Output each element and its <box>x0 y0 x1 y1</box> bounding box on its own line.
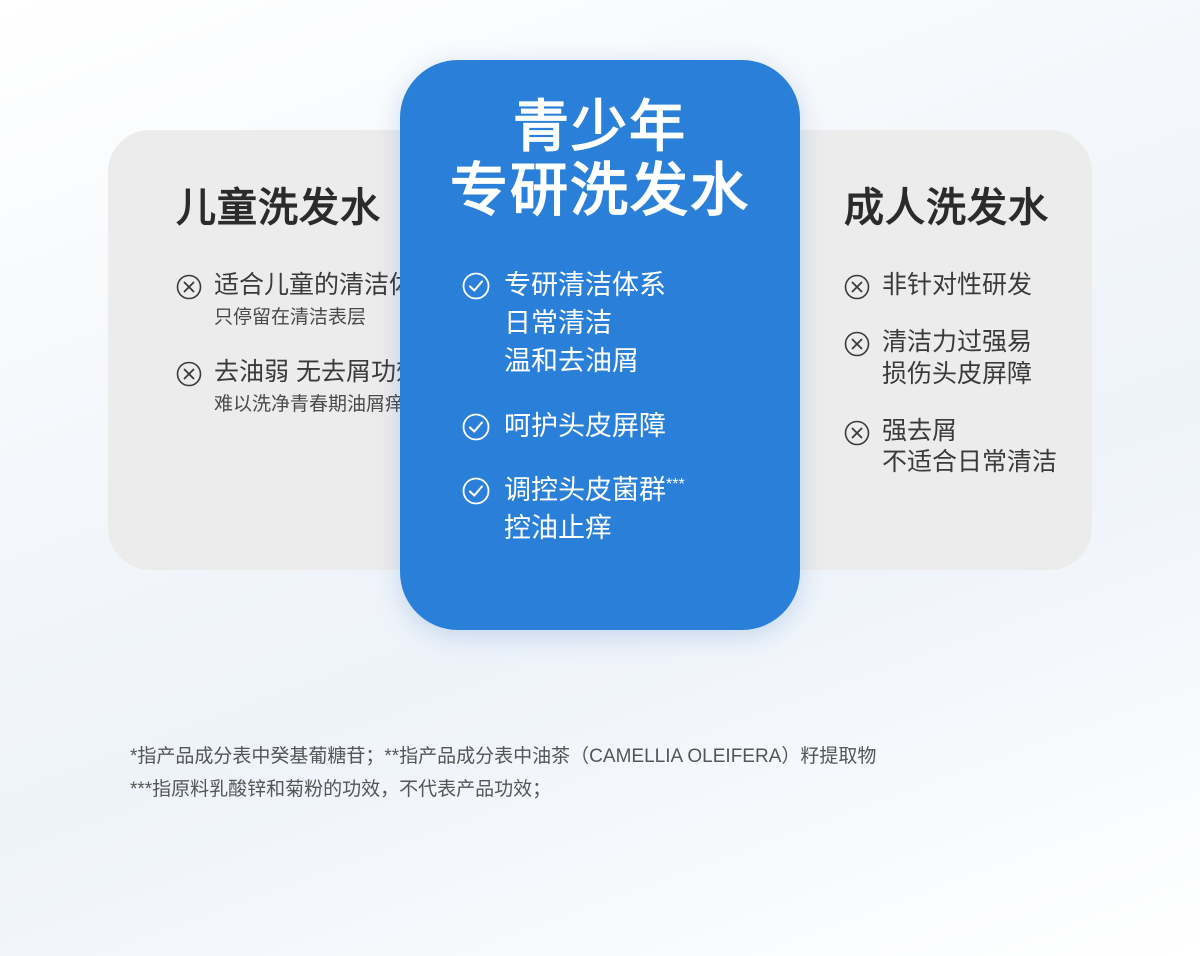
feature-main-text: 强去屑 <box>882 416 1057 447</box>
list-item: 清洁力过强易 损伤头皮屏障 <box>844 327 1092 390</box>
center-title-line1: 青少年 <box>400 98 800 157</box>
footnote-marker: *** <box>666 476 685 493</box>
center-card-title: 青少年 专研洗发水 <box>400 98 800 222</box>
x-circle-icon <box>844 331 870 357</box>
list-item: 强去屑 不适合日常清洁 <box>844 416 1092 479</box>
feature-main-text: 非针对性研发 <box>882 270 1032 301</box>
feature-line: 呵护头皮屏障 <box>504 407 666 445</box>
x-circle-icon <box>176 274 202 300</box>
adult-card-title: 成人洗发水 <box>844 186 1092 230</box>
list-item: 呵护头皮屏障 <box>462 407 800 445</box>
teen-feature-list: 专研清洁体系 日常清洁 温和去油屑 呵护头皮屏障 <box>400 266 800 548</box>
footnote-block: *指产品成分表中癸基葡糖苷；**指产品成分表中油茶（CAMELLIA OLEIF… <box>130 740 1090 807</box>
x-circle-icon <box>844 420 870 446</box>
footnote-line-1: *指产品成分表中癸基葡糖苷；**指产品成分表中油茶（CAMELLIA OLEIF… <box>130 740 1090 773</box>
teen-shampoo-card: 青少年 专研洗发水 专研清洁体系 日常清洁 温和去油屑 <box>400 60 800 630</box>
feature-line-with-footnote: 调控头皮菌群*** <box>504 471 685 509</box>
x-circle-icon <box>176 361 202 387</box>
x-circle-icon <box>844 274 870 300</box>
list-item: 调控头皮菌群*** 控油止痒 <box>462 471 800 548</box>
feature-line: 温和去油屑 <box>504 342 666 380</box>
feature-main-text-2: 损伤头皮屏障 <box>882 359 1032 390</box>
footnote-line-2: ***指原料乳酸锌和菊粉的功效，不代表产品功效； <box>130 773 1090 806</box>
feature-line: 专研清洁体系 <box>504 266 666 304</box>
feature-sub-text: 难以洗净青春期油屑痒 <box>214 392 421 418</box>
feature-line: 控油止痒 <box>504 509 685 547</box>
feature-line: 日常清洁 <box>504 304 666 342</box>
feature-main-text-2: 不适合日常清洁 <box>882 447 1057 478</box>
check-circle-icon <box>462 413 490 441</box>
check-circle-icon <box>462 272 490 300</box>
list-item: 非针对性研发 <box>844 270 1092 301</box>
center-title-line2: 专研洗发水 <box>400 161 800 222</box>
comparison-infographic: 儿童洗发水 适合儿童的清洁体系 只停留在清洁表层 <box>0 0 1200 956</box>
adult-feature-list: 非针对性研发 清洁力过强易 损伤头皮屏障 <box>844 270 1092 478</box>
feature-line-text: 调控头皮菌群 <box>504 475 666 505</box>
feature-main-text: 去油弱 无去屑功效 <box>214 357 421 388</box>
feature-main-text: 清洁力过强易 <box>882 327 1032 358</box>
check-circle-icon <box>462 477 490 505</box>
list-item: 专研清洁体系 日常清洁 温和去油屑 <box>462 266 800 381</box>
